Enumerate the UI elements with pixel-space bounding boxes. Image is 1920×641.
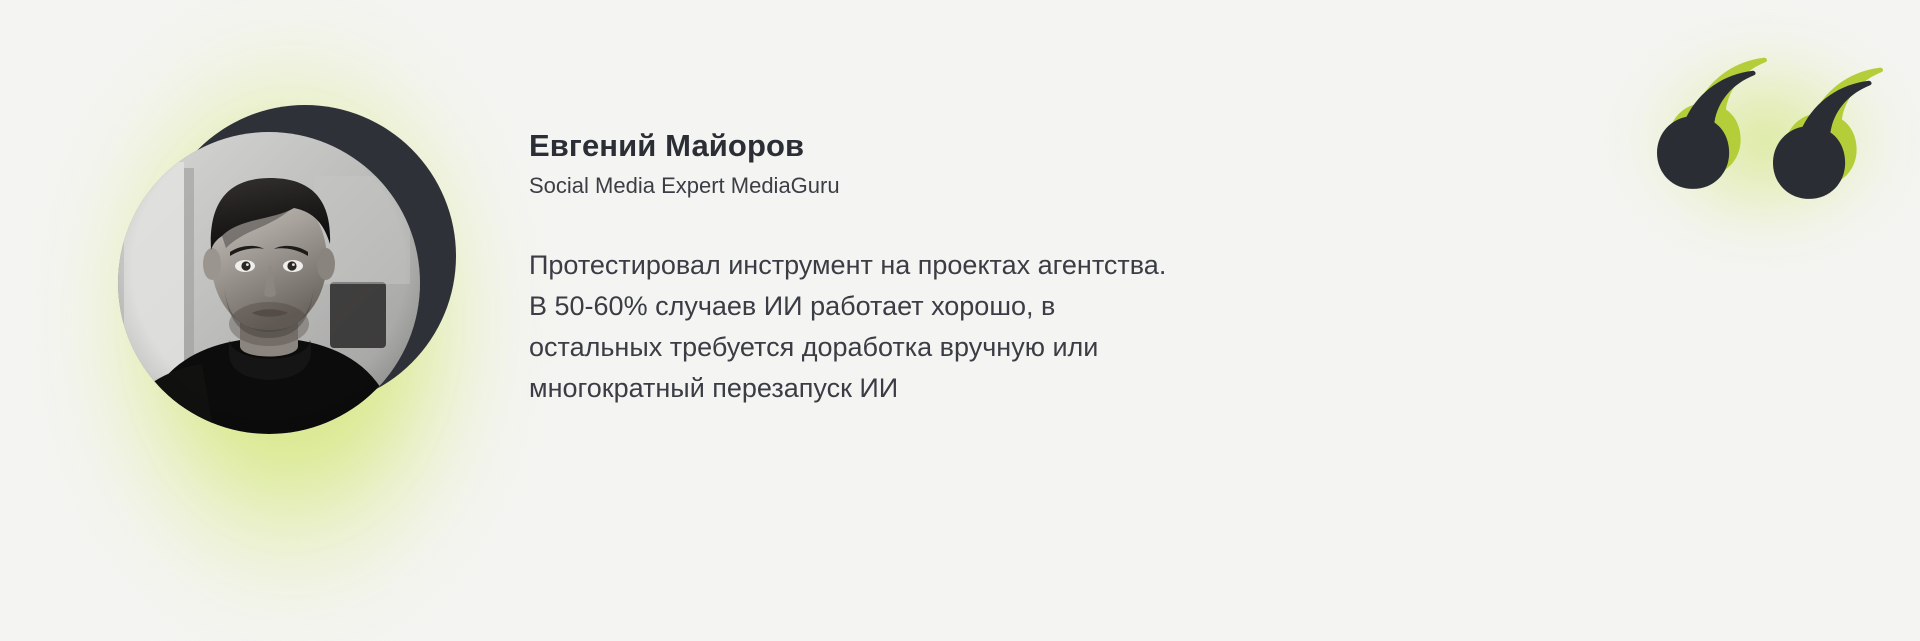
testimonial-text-block: Евгений Майоров Social Media Expert Medi… <box>529 126 1529 409</box>
quote-line: остальных требуется доработка вручную ил… <box>529 327 1529 368</box>
quote-line: В 50-60% случаев ИИ работает хорошо, в <box>529 286 1529 327</box>
quote-line: Протестировал инструмент на проектах аге… <box>529 245 1529 286</box>
person-name: Евгений Майоров <box>529 126 1529 166</box>
person-role: Social Media Expert MediaGuru <box>529 170 1529 202</box>
quote-line: многократный перезапуск ИИ <box>529 368 1529 409</box>
quotation-mark-icon <box>1655 62 1900 207</box>
avatar-photo <box>118 132 420 434</box>
testimonial-slide: Евгений Майоров Social Media Expert Medi… <box>0 0 1920 641</box>
avatar <box>118 105 458 435</box>
quote-body: Протестировал инструмент на проектах аге… <box>529 245 1529 409</box>
